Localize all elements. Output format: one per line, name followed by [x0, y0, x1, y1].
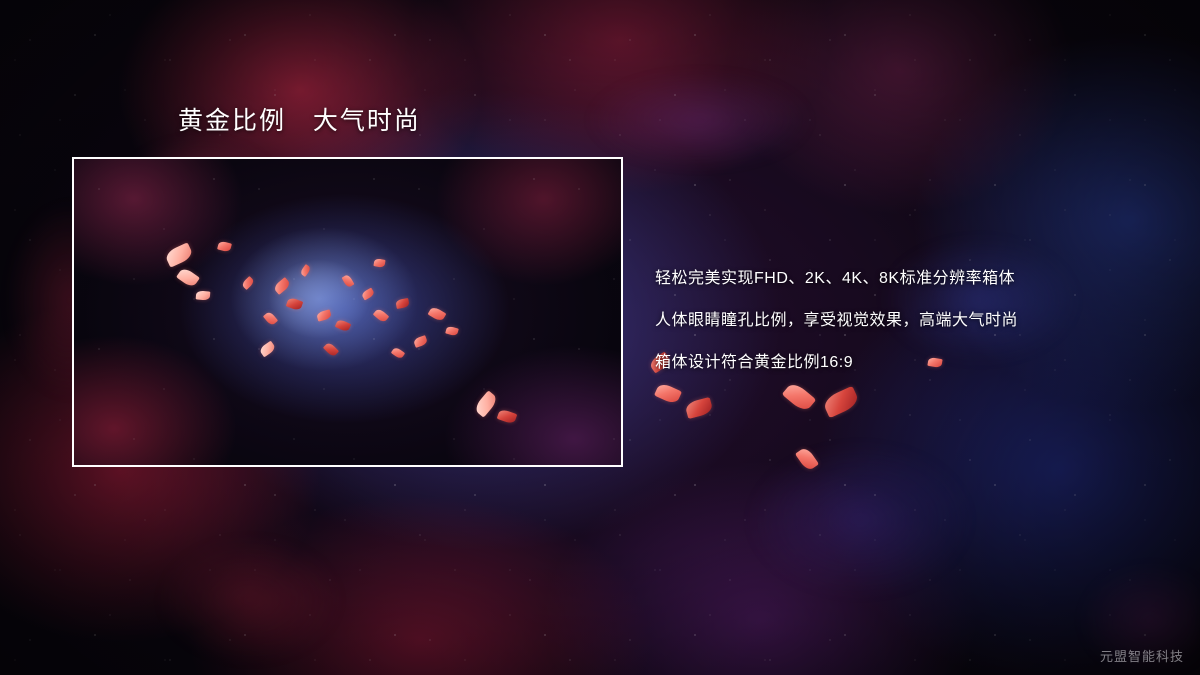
page-title: 黄金比例 大气时尚: [178, 101, 421, 137]
presentation-slide: 黄金比例 大气时尚 轻松完美实现FHD、2: [0, 0, 1200, 675]
body-line-3: 箱体设计符合黄金比例16:9: [655, 342, 1175, 384]
body-line-2: 人体眼睛瞳孔比例，享受视觉效果，高端大气时尚: [655, 300, 1175, 342]
framed-image[interactable]: [72, 157, 623, 467]
body-text: 轻松完美实现FHD、2K、4K、8K标准分辨率箱体 人体眼睛瞳孔比例，享受视觉效…: [655, 258, 1175, 384]
body-line-1: 轻松完美实现FHD、2K、4K、8K标准分辨率箱体: [655, 258, 1175, 300]
photo-starfield: [74, 159, 621, 465]
watermark: 元盟智能科技: [1100, 646, 1184, 665]
